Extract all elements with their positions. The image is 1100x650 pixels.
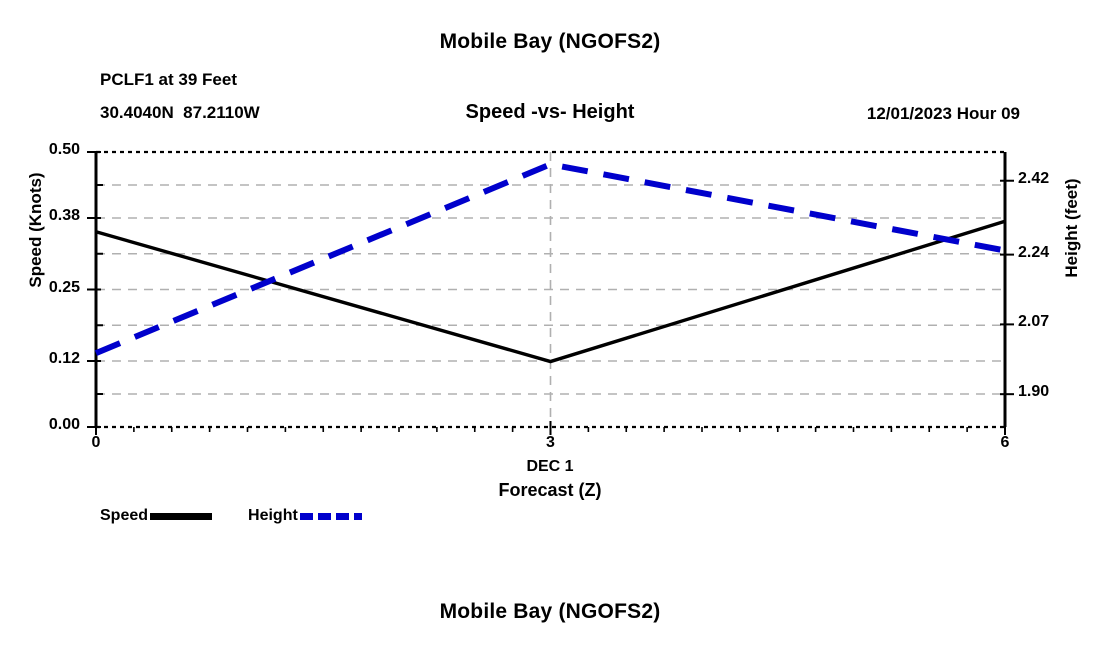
legend-swatch-speed-icon <box>150 513 212 520</box>
legend-swatch-height-icon <box>300 513 362 520</box>
y-axis-right-tick-0: 1.90 <box>1018 383 1078 401</box>
legend-label-speed: Speed <box>100 507 148 525</box>
y-axis-left-tick-1: 0.12 <box>22 350 80 368</box>
legend-item-speed: Speed <box>100 507 248 525</box>
x-axis-date-label: DEC 1 <box>0 458 1100 476</box>
chart-page: Mobile Bay (NGOFS2) PCLF1 at 39 Feet 30.… <box>0 0 1100 650</box>
legend-item-height: Height <box>248 507 398 525</box>
y-axis-right-tick-1: 2.07 <box>1018 313 1078 331</box>
x-axis-tick-1: 3 <box>531 434 571 452</box>
y-axis-right-tick-2: 2.24 <box>1018 244 1078 262</box>
gridlines <box>96 152 1005 427</box>
footer-title: Mobile Bay (NGOFS2) <box>0 600 1100 624</box>
chart-legend: Speed Height <box>100 507 398 525</box>
x-axis-title: Forecast (Z) <box>0 480 1100 501</box>
x-axis-tick-0: 0 <box>76 434 116 452</box>
y-axis-left-tick-2: 0.25 <box>22 279 80 297</box>
plot-area <box>0 0 1100 650</box>
y-axis-left-tick-3: 0.38 <box>22 207 80 225</box>
x-axis-tick-2: 6 <box>985 434 1025 452</box>
legend-label-height: Height <box>248 507 298 525</box>
y-axis-left-tick-4: 0.50 <box>22 141 80 159</box>
y-axis-left-tick-0: 0.00 <box>22 416 80 434</box>
y-axis-right-tick-3: 2.42 <box>1018 170 1078 188</box>
